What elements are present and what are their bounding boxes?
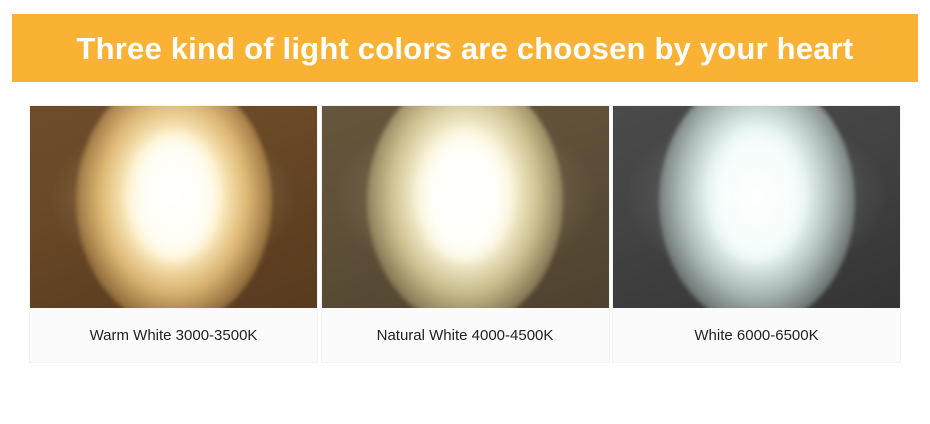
light-color-card[interactable]: Warm White 3000-3500K [30,106,317,362]
light-hotspot [714,134,800,260]
card-label: Warm White 3000-3500K [90,327,258,344]
cool-white-light-photo [613,106,900,308]
natural-white-light-photo [322,106,609,308]
headline-banner: Three kind of light colors are choosen b… [12,14,918,82]
light-color-card-list: Warm White 3000-3500K Natural White 4000… [30,106,900,362]
card-label: White 6000-6500K [694,327,818,344]
light-hotspot [422,134,508,260]
page-title: Three kind of light colors are choosen b… [77,33,854,64]
warm-white-light-photo [30,106,317,308]
light-hotspot [131,134,217,260]
light-color-card[interactable]: Natural White 4000-4500K [322,106,609,362]
light-color-card[interactable]: White 6000-6500K [613,106,900,362]
card-caption: White 6000-6500K [613,308,900,362]
card-caption: Natural White 4000-4500K [322,308,609,362]
card-caption: Warm White 3000-3500K [30,308,317,362]
card-label: Natural White 4000-4500K [377,327,554,344]
